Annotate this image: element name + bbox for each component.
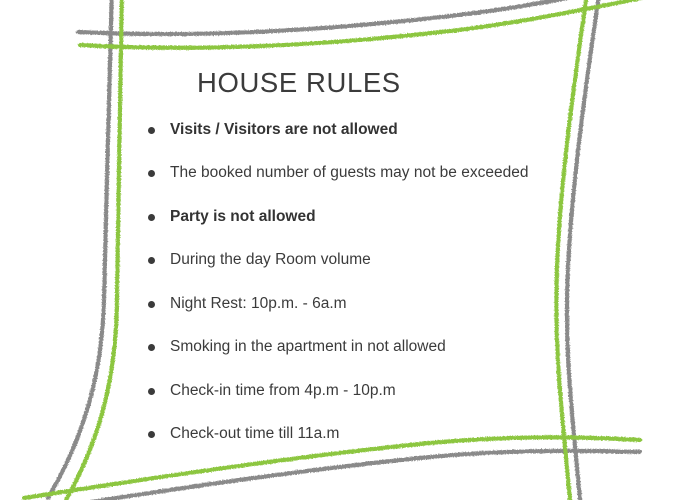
page-title: HOUSE RULES — [197, 67, 401, 99]
list-item: Night Rest: 10p.m. - 6a.m — [148, 293, 347, 315]
list-item: Check-in time from 4p.m - 10p.m — [148, 380, 396, 402]
house-rules-poster: HOUSE RULES Visits / Visitors are not al… — [0, 0, 700, 500]
list-item: The booked number of guests may not be e… — [148, 162, 528, 184]
rule-text: Smoking in the apartment in not allowed — [170, 339, 446, 355]
list-item: Party is not allowed — [148, 206, 316, 228]
bullet-dot-icon — [148, 257, 155, 264]
bullet-dot-icon — [148, 431, 155, 438]
bullet-dot-icon — [148, 388, 155, 395]
rule-text: Party is not allowed — [170, 209, 316, 225]
rule-text: During the day Room volume — [170, 252, 371, 268]
rule-text: Night Rest: 10p.m. - 6a.m — [170, 296, 347, 312]
bullet-dot-icon — [148, 127, 155, 134]
list-item: During the day Room volume — [148, 249, 371, 271]
rule-text: The booked number of guests may not be e… — [170, 165, 528, 181]
rule-text: Visits / Visitors are not allowed — [170, 122, 398, 138]
list-item: Check-out time till 11a.m — [148, 423, 339, 445]
rule-text: Check-out time till 11a.m — [170, 426, 339, 442]
bullet-dot-icon — [148, 170, 155, 177]
bullet-dot-icon — [148, 344, 155, 351]
bullet-dot-icon — [148, 214, 155, 221]
rule-text: Check-in time from 4p.m - 10p.m — [170, 383, 396, 399]
bullet-dot-icon — [148, 301, 155, 308]
list-item: Smoking in the apartment in not allowed — [148, 336, 446, 358]
list-item: Visits / Visitors are not allowed — [148, 119, 398, 141]
